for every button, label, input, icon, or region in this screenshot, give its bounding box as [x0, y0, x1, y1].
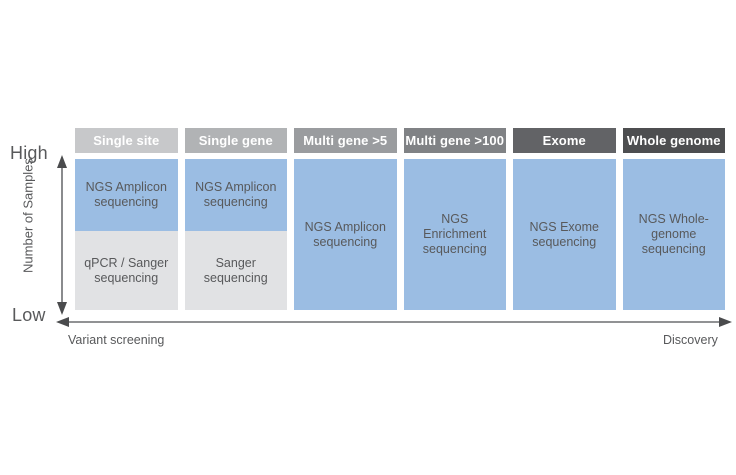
cell-single-site-high: NGS Amplicon sequencing [75, 159, 178, 231]
column-header-multi-gene-100: Multi gene >100 [404, 128, 507, 153]
column-body-multi-gene-100: NGS Enrichment sequencing [404, 159, 507, 310]
column-body-whole-genome: NGS Whole-genome sequencing [623, 159, 726, 310]
column-body-single-site: NGS Amplicon sequencing qPCR / Sanger se… [75, 159, 178, 310]
sequencing-method-selection-diagram: High Low Number of Samples Single site N… [0, 0, 736, 475]
column-whole-genome: Whole genome NGS Whole-genome sequencing [623, 128, 726, 310]
cell-whole-genome: NGS Whole-genome sequencing [623, 159, 726, 310]
column-header-exome: Exome [513, 128, 616, 153]
y-axis-title: Number of Samples [21, 146, 36, 286]
cell-single-gene-low: Sanger sequencing [185, 231, 288, 310]
column-exome: Exome NGS Exome sequencing [513, 128, 616, 310]
cell-single-gene-high: NGS Amplicon sequencing [185, 159, 288, 231]
column-header-multi-gene-5: Multi gene >5 [294, 128, 397, 153]
cell-exome: NGS Exome sequencing [513, 159, 616, 310]
y-axis-low-label: Low [12, 305, 46, 326]
column-single-site: Single site NGS Amplicon sequencing qPCR… [75, 128, 178, 310]
column-body-single-gene: NGS Amplicon sequencing Sanger sequencin… [185, 159, 288, 310]
column-body-exome: NGS Exome sequencing [513, 159, 616, 310]
column-multi-gene-100: Multi gene >100 NGS Enrichment sequencin… [404, 128, 507, 310]
column-header-single-gene: Single gene [185, 128, 288, 153]
y-axis: High Low Number of Samples [0, 140, 75, 335]
cell-single-site-low: qPCR / Sanger sequencing [75, 231, 178, 310]
y-axis-double-arrow-icon [53, 155, 71, 315]
x-axis-double-arrow-icon [56, 313, 732, 331]
column-single-gene: Single gene NGS Amplicon sequencing Sang… [185, 128, 288, 310]
cell-multi-gene-100: NGS Enrichment sequencing [404, 159, 507, 310]
column-grid: Single site NGS Amplicon sequencing qPCR… [75, 128, 725, 310]
column-body-multi-gene-5: NGS Amplicon sequencing [294, 159, 397, 310]
column-header-single-site: Single site [75, 128, 178, 153]
column-header-whole-genome: Whole genome [623, 128, 726, 153]
column-multi-gene-5: Multi gene >5 NGS Amplicon sequencing [294, 128, 397, 310]
x-axis-left-label: Variant screening [68, 333, 164, 347]
cell-multi-gene-5: NGS Amplicon sequencing [294, 159, 397, 310]
x-axis-right-label: Discovery [663, 333, 718, 347]
